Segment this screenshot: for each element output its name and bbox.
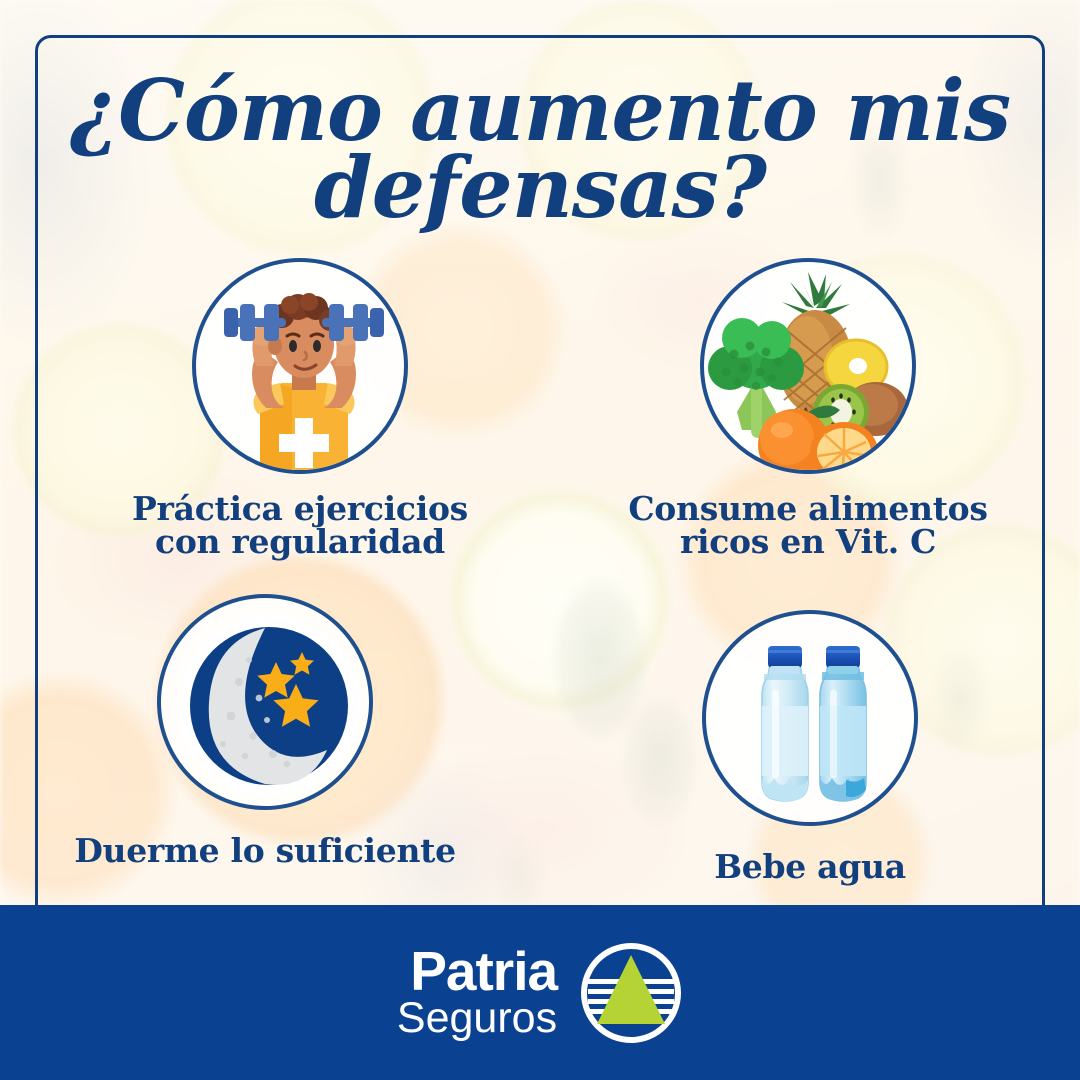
tip-label-vitamin-c: Consume alimentos ricos en Vit. C <box>608 492 1008 558</box>
crescent-moon-and-stars-icon <box>161 598 373 810</box>
tip-icon-circle-vitamin-c <box>700 258 916 474</box>
tip-card-water: Bebe agua <box>700 610 920 826</box>
tip-icon-circle-water <box>702 610 918 826</box>
tip-icon-circle-exercise <box>192 258 408 474</box>
brand-name-primary: Patria <box>397 945 557 998</box>
footer-brand-bar: Patria Seguros <box>0 905 1080 1080</box>
brand-wordmark: Patria Seguros <box>397 945 557 1039</box>
man-lifting-dumbbells-icon <box>196 262 408 474</box>
water-bottles-icon <box>706 614 918 826</box>
tip-card-exercise: Práctica ejercicios con regularidad <box>190 258 410 474</box>
fruits-and-vegetables-icon <box>704 262 916 474</box>
brand-name-secondary: Seguros <box>397 998 557 1039</box>
tip-icon-circle-sleep <box>157 594 373 810</box>
patria-seguros-triangle-emblem <box>579 941 683 1045</box>
page-title-line-2: defensas? <box>0 149 1080 226</box>
page-title: ¿Cómo aumento mis defensas? <box>0 72 1080 227</box>
tip-card-sleep: Duerme lo suficiente <box>155 594 375 810</box>
poster-canvas: ¿Cómo aumento mis defensas? <box>0 0 1080 1080</box>
tip-card-vitamin-c: Consume alimentos ricos en Vit. C <box>698 258 918 474</box>
tip-label-exercise: Práctica ejercicios con regularidad <box>100 492 500 558</box>
tip-label-sleep: Duerme lo suficiente <box>65 834 465 867</box>
tip-label-water: Bebe agua <box>610 850 1010 883</box>
